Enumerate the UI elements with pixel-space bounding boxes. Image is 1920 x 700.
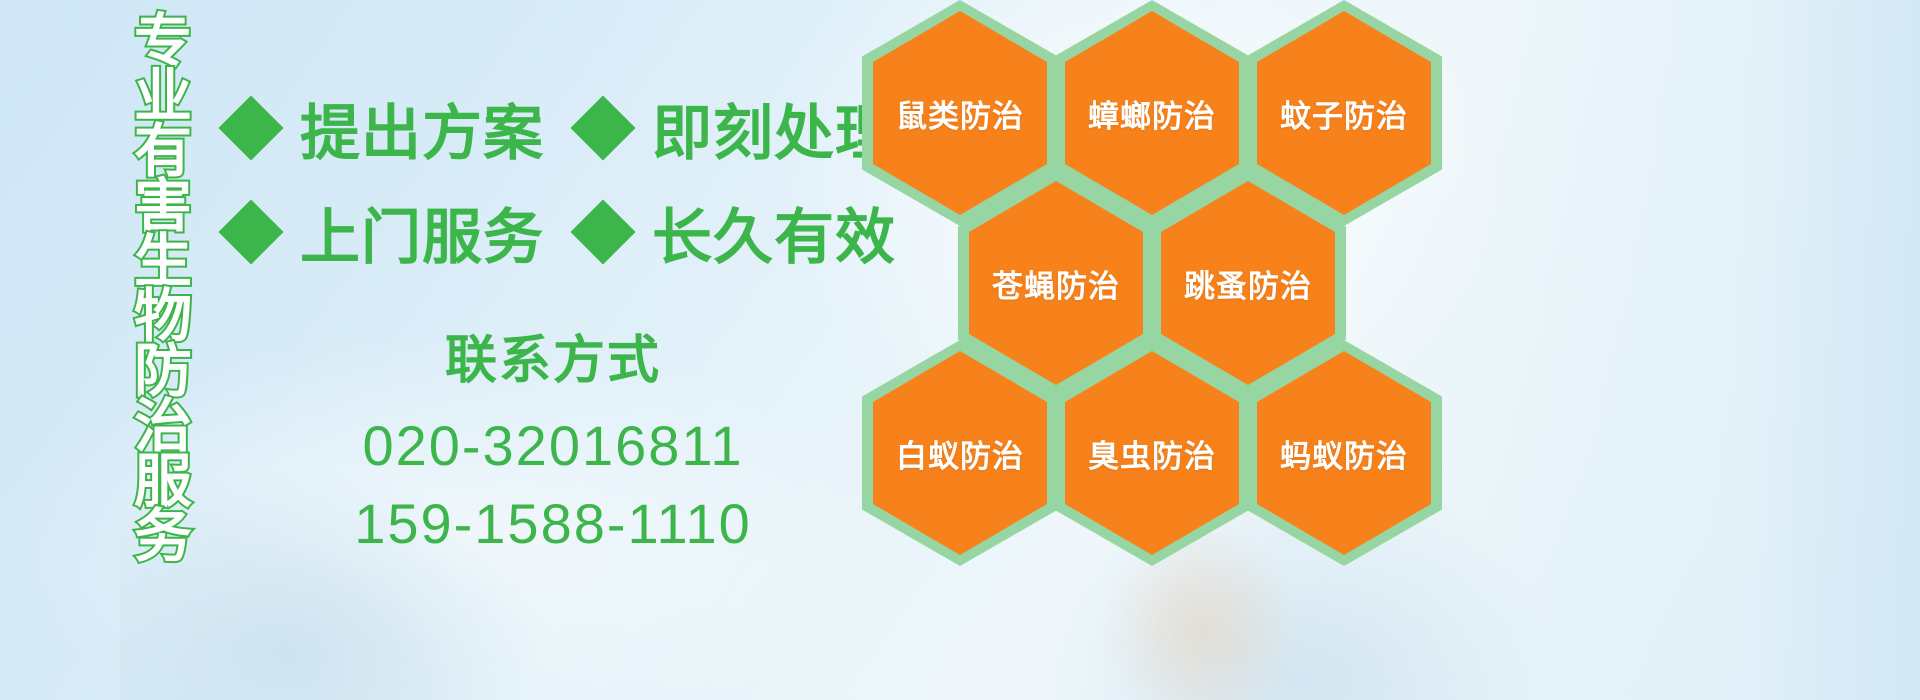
vertical-headline-char: 物 (134, 289, 192, 344)
service-label: 白蚁防治 (896, 431, 1024, 476)
vertical-headline: 专 业 有 害 生 物 防 治 服 务 (108, 14, 218, 574)
contact-title: 联系方式 (228, 318, 878, 393)
service-hexagon-ant[interactable]: 蚂蚁防治 (1246, 340, 1442, 566)
feature-row: 上门服务 长久有效 (228, 180, 868, 284)
vertical-headline-char: 务 (134, 509, 192, 564)
feature-label: 提出方案 (300, 85, 544, 172)
contact-block: 联系方式 020-32016811 159-1588-1110 (228, 318, 878, 563)
feature-list: 提出方案 即刻处理 上门服务 长久有效 (228, 76, 868, 284)
vertical-headline-char: 服 (134, 454, 192, 509)
vertical-headline-char: 害 (134, 179, 192, 234)
background-gradient-right-edge (1480, 0, 1920, 700)
service-label: 臭虫防治 (1088, 431, 1216, 476)
vertical-headline-char: 生 (134, 234, 192, 289)
service-honeycomb: 鼠类防治 蟑螂防治 蚊子防治 苍蝇防治 跳蚤防治 白蚁防治 臭虫防治 蚂蚁防治 (862, 0, 1472, 552)
service-label: 蟑螂防治 (1088, 91, 1216, 136)
service-label: 鼠类防治 (896, 91, 1024, 136)
service-label: 苍蝇防治 (992, 261, 1120, 306)
vertical-headline-char: 有 (134, 124, 192, 179)
feature-label: 即刻处理 (652, 85, 896, 172)
diamond-bullet-icon (218, 199, 283, 264)
service-label: 蚂蚁防治 (1280, 431, 1408, 476)
service-hexagon-bedbug[interactable]: 臭虫防治 (1054, 340, 1250, 566)
feature-label: 长久有效 (652, 189, 896, 276)
diamond-bullet-icon (218, 95, 283, 160)
vertical-headline-char: 治 (134, 399, 192, 454)
service-label: 蚊子防治 (1280, 91, 1408, 136)
vertical-headline-char: 防 (134, 344, 192, 399)
vertical-headline-char: 业 (134, 69, 192, 124)
vertical-headline-char: 专 (134, 14, 192, 69)
feature-row: 提出方案 即刻处理 (228, 76, 868, 180)
diamond-bullet-icon (570, 95, 635, 160)
contact-phone-landline[interactable]: 020-32016811 (228, 407, 878, 485)
contact-phone-mobile[interactable]: 159-1588-1110 (228, 485, 878, 563)
diamond-bullet-icon (570, 199, 635, 264)
service-hexagon-termite[interactable]: 白蚁防治 (862, 340, 1058, 566)
service-label: 跳蚤防治 (1184, 261, 1312, 306)
feature-label: 上门服务 (300, 189, 544, 276)
